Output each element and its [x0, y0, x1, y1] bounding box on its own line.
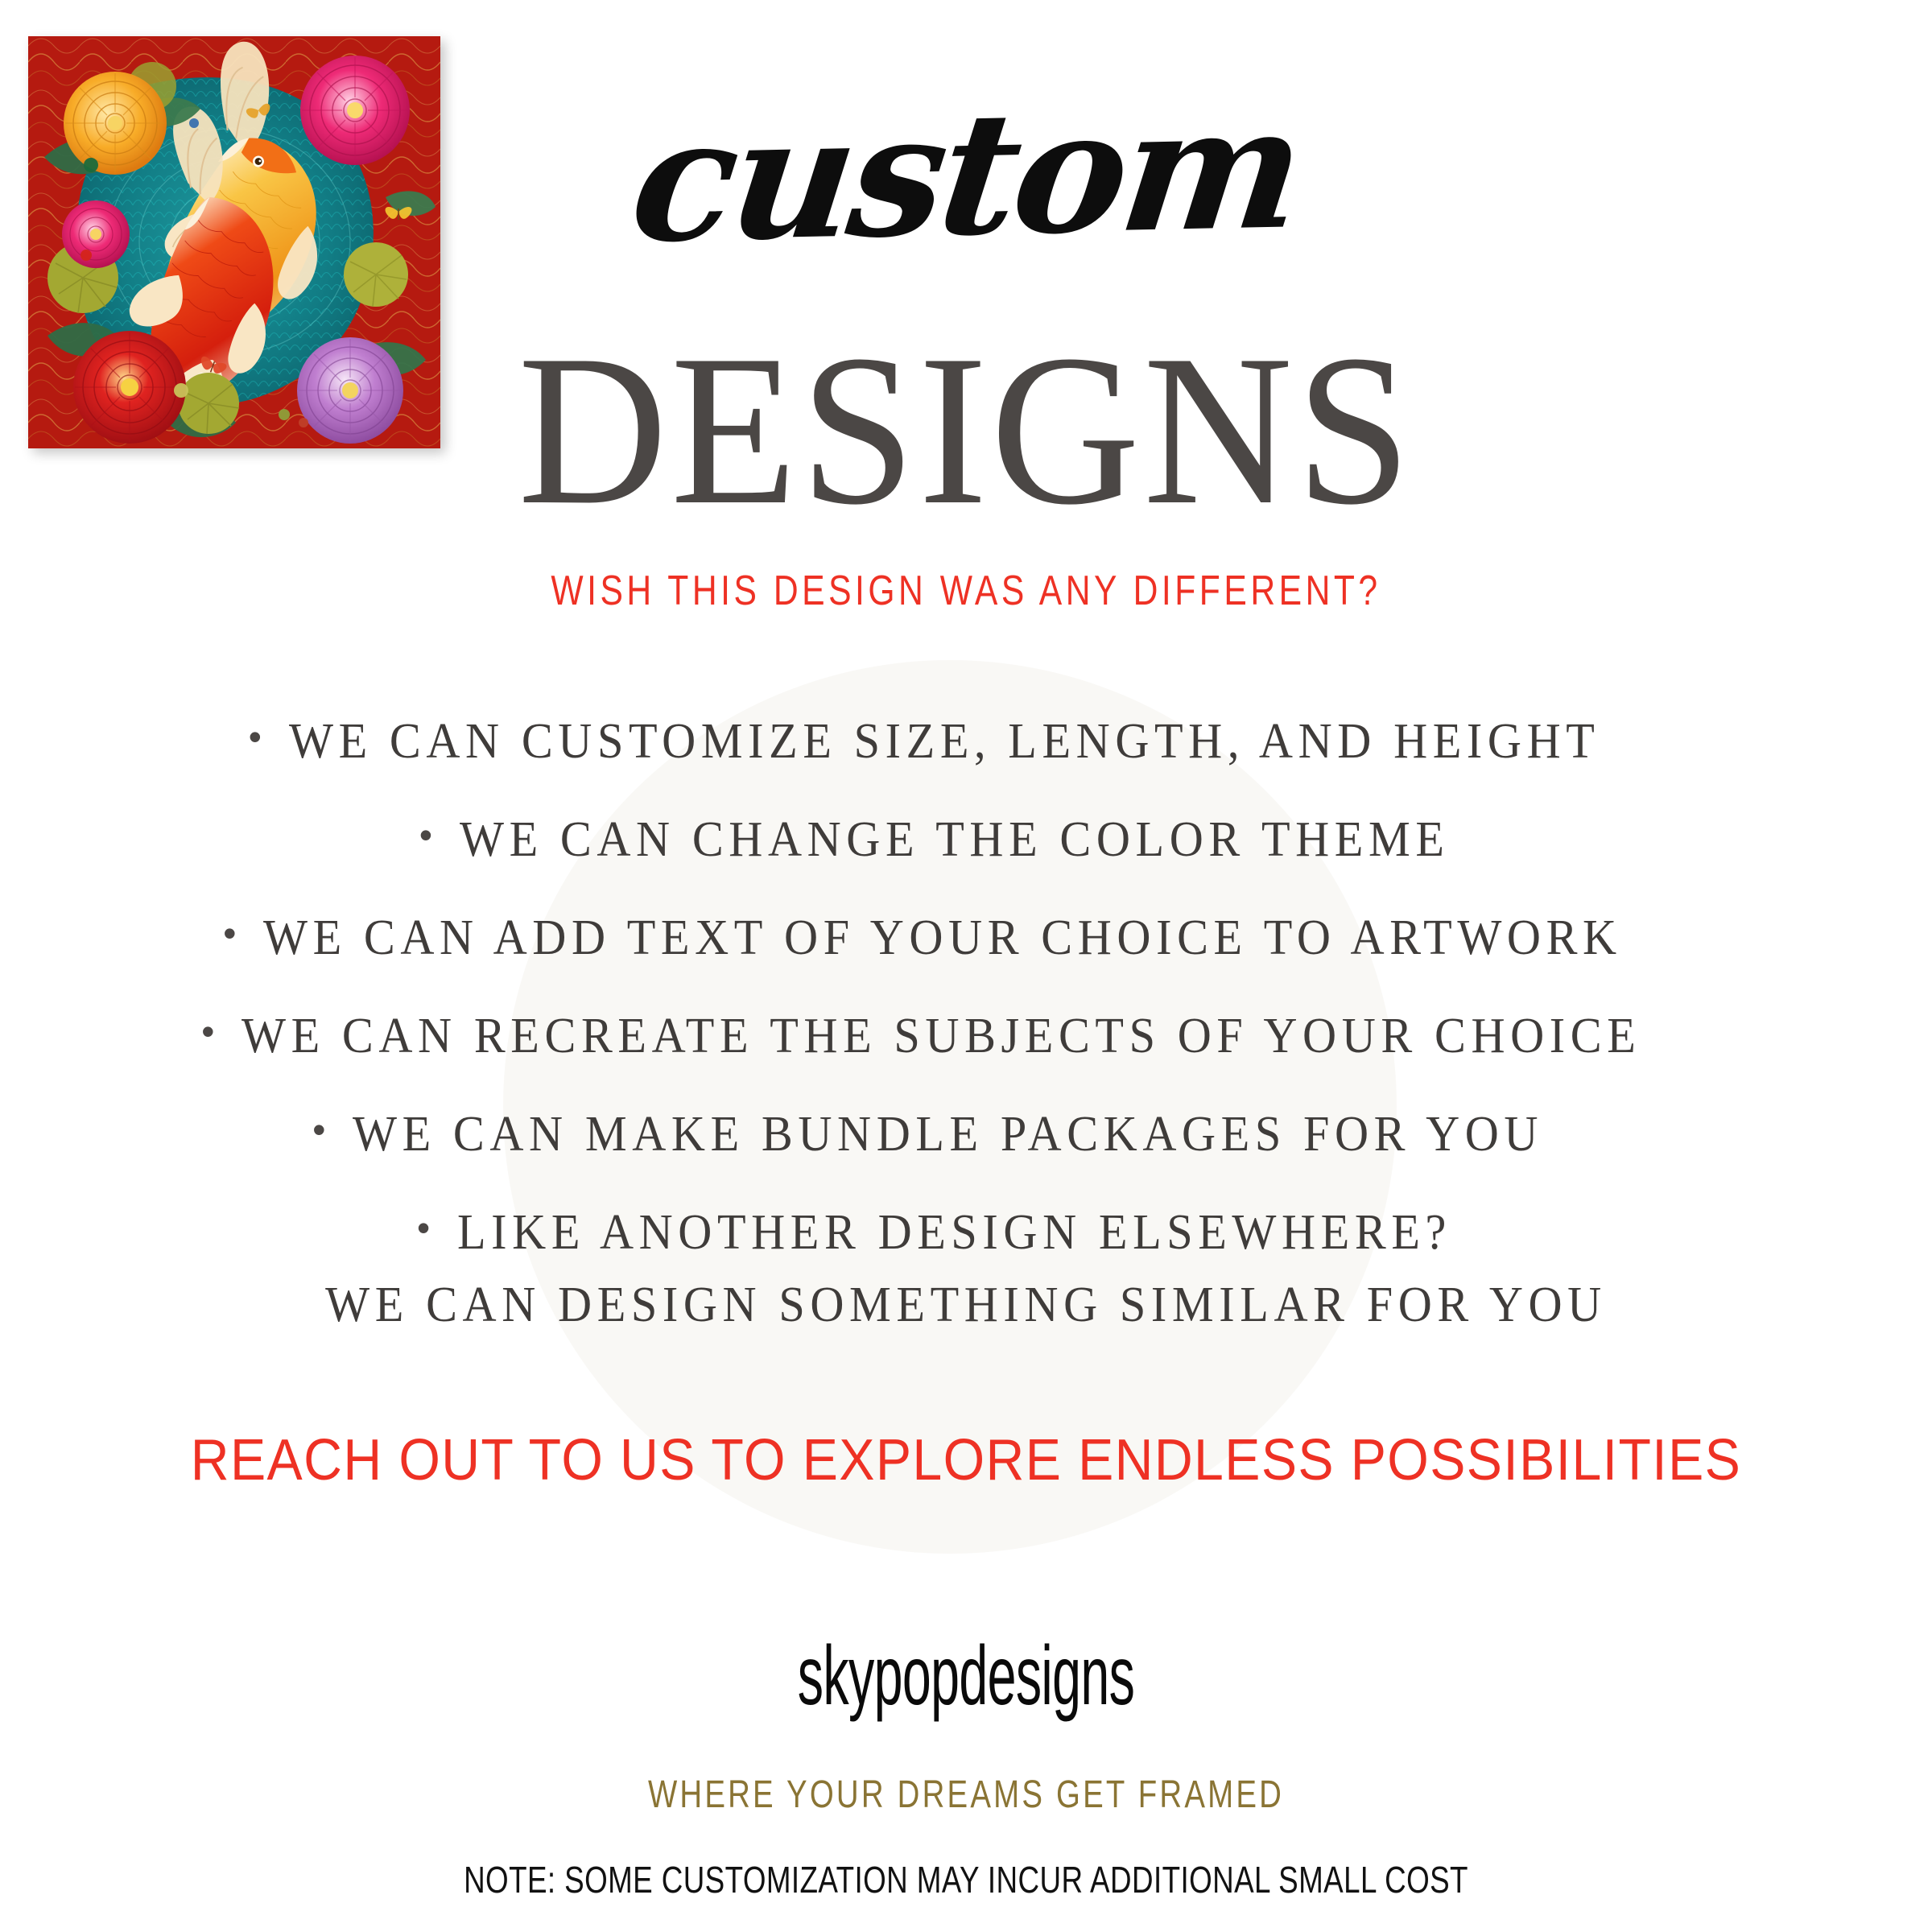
bullet-icon: •	[249, 718, 262, 755]
list-item-label: WE CAN CUSTOMIZE SIZE, LENGTH, AND HEIGH…	[289, 716, 1600, 766]
footer-note: NOTE: SOME CUSTOMIZATION MAY INCUR ADDIT…	[193, 1861, 1739, 1898]
list-item-label: WE CAN MAKE BUNDLE PACKAGES FOR YOU	[353, 1109, 1543, 1159]
list-item-label: LIKE ANOTHER DESIGN ELSEWHERE?	[457, 1207, 1451, 1257]
bullet-icon: •	[223, 914, 236, 952]
koi-fish-artwork-svg	[28, 36, 440, 448]
list-item-label: WE CAN RECREATE THE SUBJECTS OF YOUR CHO…	[242, 1011, 1641, 1061]
list-item: • WE CAN ADD TEXT OF YOUR CHOICE TO ARTW…	[0, 889, 1932, 987]
bullet-icon: •	[312, 1111, 325, 1148]
list-item-label: WE CAN ADD TEXT OF YOUR CHOICE TO ARTWOR…	[263, 913, 1622, 963]
brand-tagline: WHERE YOUR DREAMS GET FRAMED	[193, 1776, 1739, 1814]
benefits-continuation-line: WE CAN DESIGN SOMETHING SIMILAR FOR YOU	[58, 1280, 1874, 1330]
benefits-list: • WE CAN CUSTOMIZE SIZE, LENGTH, AND HEI…	[0, 692, 1932, 1282]
koi-fish-artwork-thumbnail[interactable]	[28, 36, 440, 448]
tagline-question: WISH THIS DESIGN WAS ANY DIFFERENT?	[174, 570, 1758, 612]
brand-name: skypopdesigns	[367, 1634, 1565, 1718]
bullet-icon: •	[419, 816, 432, 853]
list-item: • WE CAN CUSTOMIZE SIZE, LENGTH, AND HEI…	[0, 692, 1932, 791]
list-item: • WE CAN MAKE BUNDLE PACKAGES FOR YOU	[0, 1085, 1932, 1183]
list-item: • WE CAN CHANGE THE COLOR THEME	[0, 791, 1932, 889]
bullet-icon: •	[201, 1013, 214, 1050]
call-to-action-text[interactable]: REACH OUT TO US TO EXPLORE ENDLESS POSSI…	[77, 1431, 1855, 1489]
list-item: • WE CAN RECREATE THE SUBJECTS OF YOUR C…	[0, 987, 1932, 1085]
bullet-icon: •	[417, 1209, 430, 1246]
list-item-label: WE CAN CHANGE THE COLOR THEME	[460, 815, 1450, 865]
list-item: • LIKE ANOTHER DESIGN ELSEWHERE?	[0, 1183, 1932, 1282]
